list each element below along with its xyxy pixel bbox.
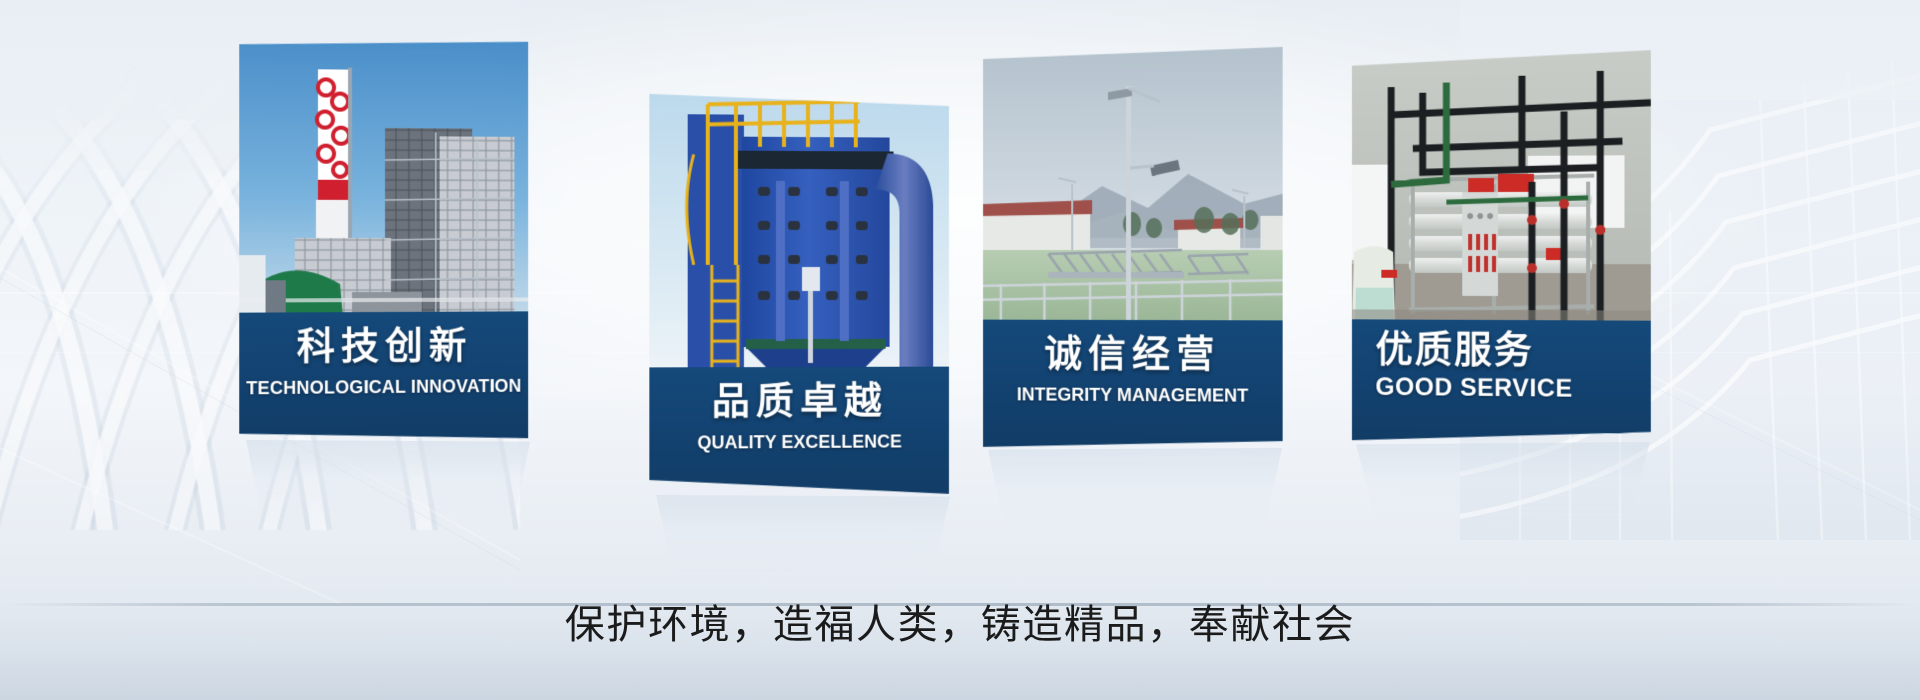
panel-reflection-4 [1356, 442, 1650, 522]
panel-title-cn-good-service: 优质服务 [1375, 331, 1650, 371]
panel-photo-quality-excellence [649, 94, 949, 384]
panel-title-en-good-service: GOOD SERVICE [1375, 375, 1650, 402]
panel-title-cn-integrity-management: 诚信经营 [983, 336, 1283, 375]
panel-photo-technological-innovation [239, 38, 528, 329]
banner-stage: 科技创新 TECHNOLOGICAL INNOVATION [0, 0, 1920, 700]
panel-title-cn-technological-innovation: 科技创新 [239, 327, 528, 367]
panel-title-cn-quality-excellence: 品质卓越 [649, 383, 949, 422]
panel-title-en-integrity-management: INTEGRITY MANAGEMENT [983, 385, 1283, 405]
panel-title-en-quality-excellence: QUALITY EXCELLENCE [649, 432, 949, 452]
panel-integrity-management[interactable]: 诚信经营 INTEGRITY MANAGEMENT [983, 47, 1283, 449]
panel-caption-technological-innovation: 科技创新 TECHNOLOGICAL INNOVATION [239, 311, 528, 441]
panel-row: 科技创新 TECHNOLOGICAL INNOVATION [0, 0, 1920, 620]
panel-caption-good-service: 优质服务 GOOD SERVICE [1352, 319, 1651, 444]
panel-caption-quality-excellence: 品质卓越 QUALITY EXCELLENCE [649, 367, 949, 497]
panel-title-en-technological-innovation: TECHNOLOGICAL INNOVATION [239, 377, 528, 398]
panel-photo-integrity-management [983, 47, 1283, 337]
panel-technological-innovation[interactable]: 科技创新 TECHNOLOGICAL INNOVATION [239, 38, 528, 442]
panel-caption-integrity-management: 诚信经营 INTEGRITY MANAGEMENT [983, 320, 1283, 450]
panel-reflection-1 [246, 440, 530, 526]
panel-quality-excellence[interactable]: 品质卓越 QUALITY EXCELLENCE [649, 94, 949, 496]
panel-photo-good-service [1352, 50, 1651, 333]
banner-tagline: 保护环境，造福人类，铸造精品，奉献社会 [0, 592, 1920, 650]
panel-good-service[interactable]: 优质服务 GOOD SERVICE [1352, 50, 1651, 444]
panel-reflection-2 [656, 495, 950, 575]
panel-reflection-3 [988, 448, 1282, 532]
